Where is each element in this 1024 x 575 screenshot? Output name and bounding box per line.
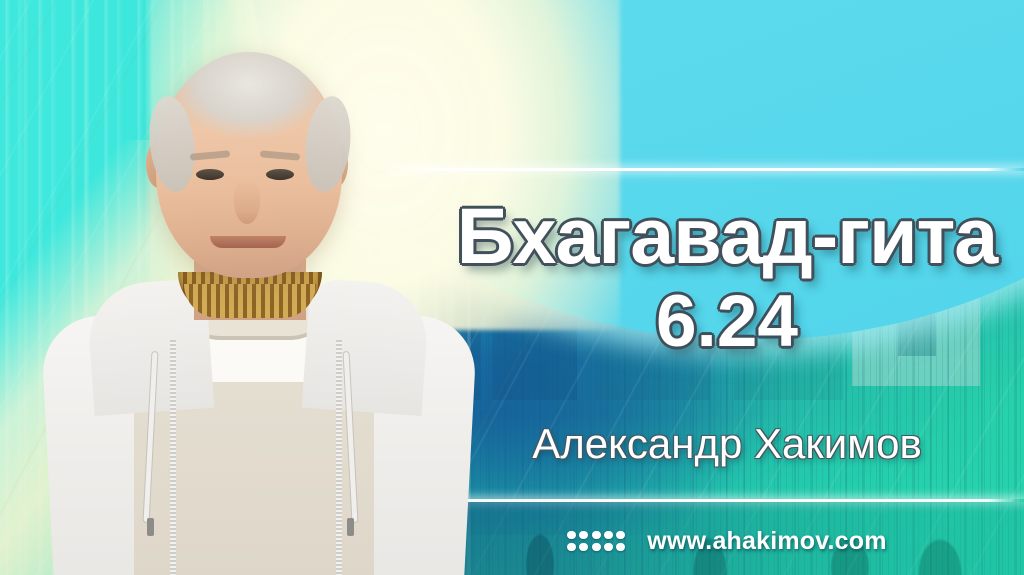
logo-dash	[567, 543, 576, 551]
author-name: Александр Хакимов	[430, 420, 1024, 468]
drawcord-tip-right	[347, 518, 354, 536]
logo-dash	[579, 531, 588, 539]
page-title: Бхагавад-гита	[430, 196, 1024, 275]
logo-dash	[604, 531, 613, 539]
logo-dash	[592, 543, 601, 551]
website-url[interactable]: www.ahakimov.com	[647, 527, 886, 556]
verse-number: 6.24	[430, 285, 1024, 358]
title-block: Бхагавад-гита 6.24	[0, 196, 1024, 358]
ahakimov-dashes-logo-icon	[567, 531, 625, 552]
drawcord-tip-left	[147, 518, 154, 536]
zipper-right	[336, 340, 342, 575]
zipper-left	[170, 340, 176, 575]
logo-dash	[616, 543, 625, 551]
logo-dash	[616, 531, 625, 539]
slide-canvas: Бхагавад-гита 6.24 Александр Хакимов www…	[0, 0, 1024, 575]
divider-top	[390, 168, 1024, 171]
eye-left	[196, 169, 224, 180]
eye-right	[266, 169, 294, 180]
logo-dash	[592, 531, 601, 539]
logo-dash	[604, 543, 613, 551]
logo-dash	[579, 543, 588, 551]
logo-dash	[567, 531, 576, 539]
footer: www.ahakimov.com	[430, 519, 1024, 563]
